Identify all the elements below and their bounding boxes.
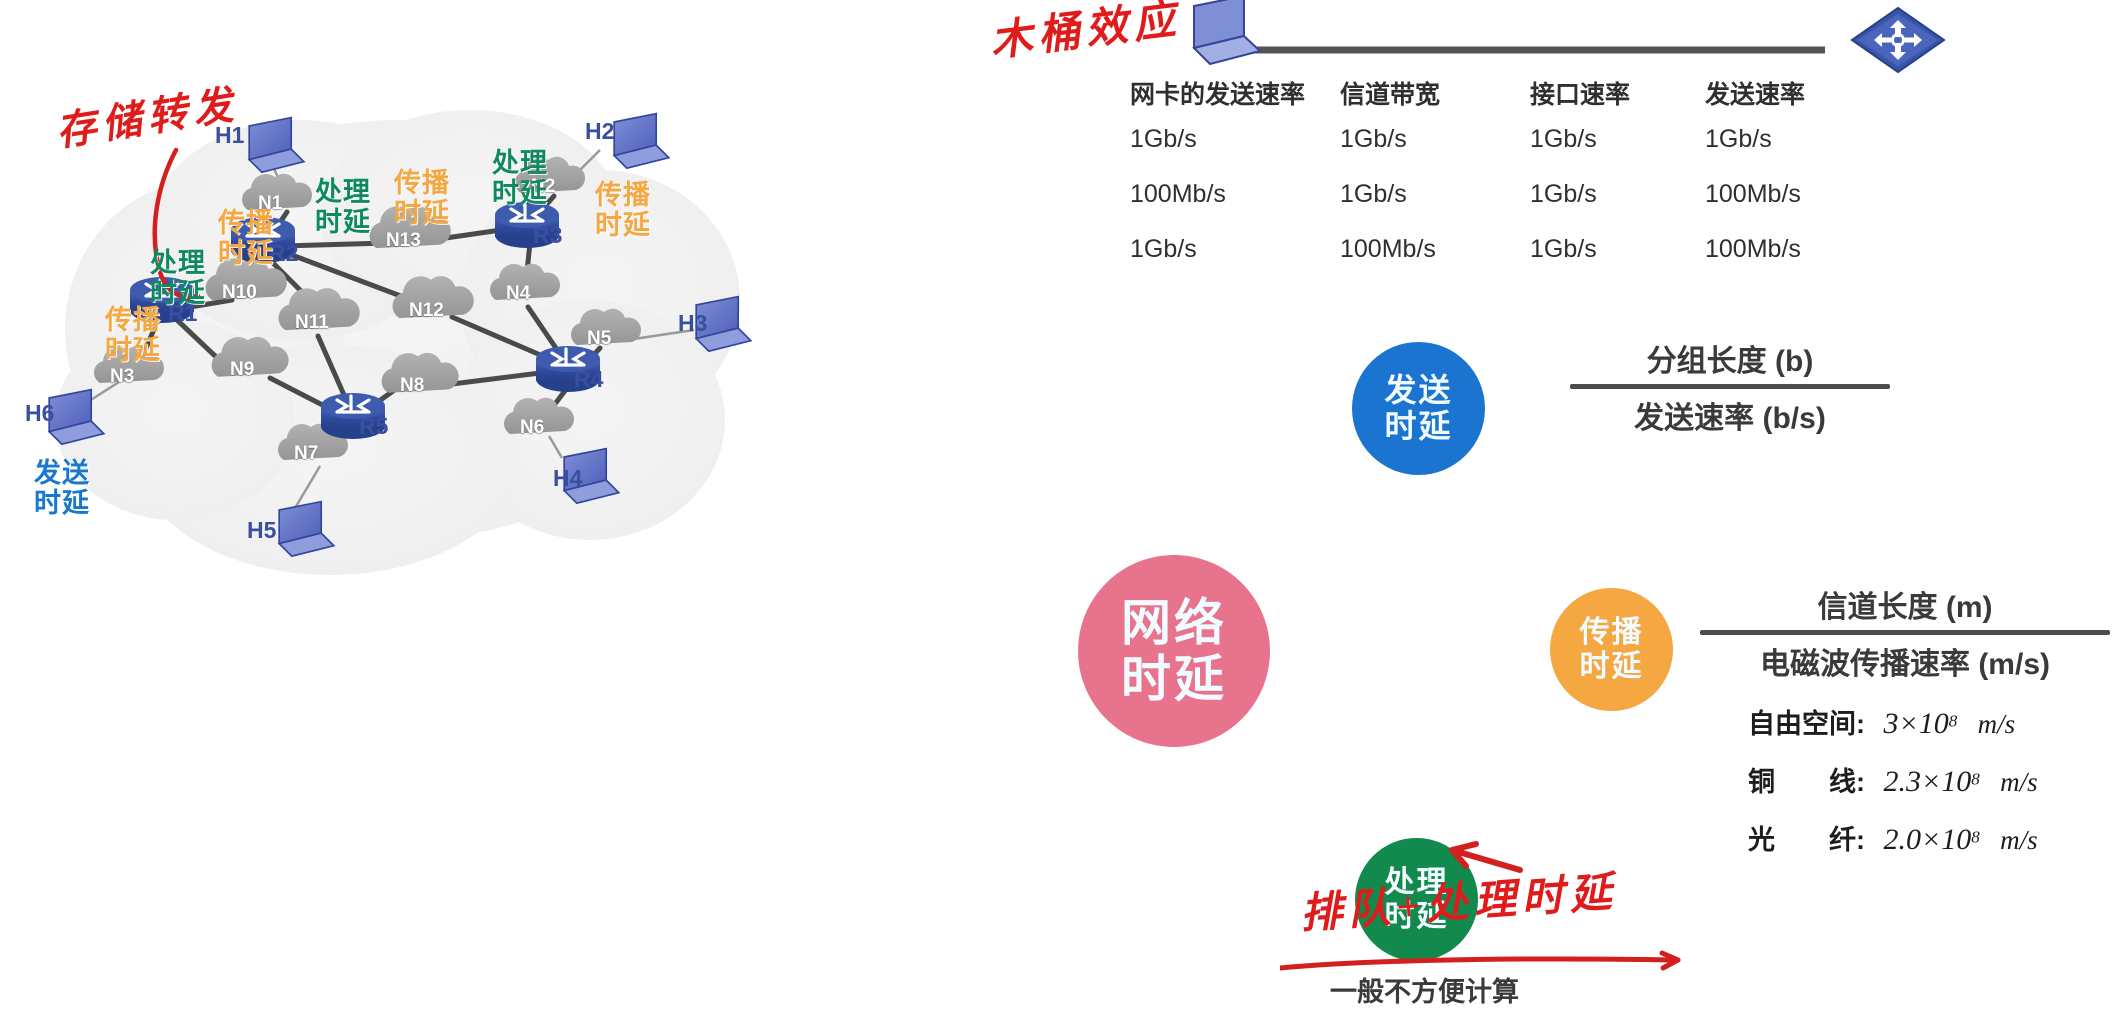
delay-label-sending-h6: 发送时延 bbox=[34, 458, 90, 518]
propagation-delay-line2: 时延 bbox=[1580, 650, 1644, 684]
delay-label-propagation-3: 传播时延 bbox=[394, 168, 450, 228]
cloud-label-n11: N11 bbox=[295, 312, 329, 334]
delay-line1: 处理 bbox=[492, 148, 548, 178]
rate-cell-r2c1: 100Mb/s bbox=[1340, 235, 1436, 264]
rate-cell-r2c0: 1Gb/s bbox=[1130, 235, 1197, 264]
rate-header-3: 发送速率 bbox=[1705, 75, 1805, 111]
sending-delay-circle: 发送 时延 bbox=[1352, 342, 1485, 475]
speed-unit: m/s bbox=[1978, 709, 2016, 739]
handwriting-queue-plus-processing: 排队+处理时延 bbox=[1298, 858, 1619, 941]
rate-header-2: 接口速率 bbox=[1530, 75, 1630, 111]
delay-line1: 处理 bbox=[315, 177, 371, 207]
delay-line2: 时延 bbox=[150, 278, 206, 308]
delay-line1: 传播 bbox=[595, 180, 651, 210]
cloud-label-n8: N8 bbox=[400, 375, 424, 397]
rate-cell-r2c3: 100Mb/s bbox=[1705, 235, 1801, 264]
delay-label-propagation-1: 传播时延 bbox=[105, 305, 161, 365]
rate-cell-r0c0: 1Gb/s bbox=[1130, 125, 1197, 154]
propagation-delay-circle: 传播 时延 bbox=[1550, 588, 1673, 711]
speed-base: 10 bbox=[1941, 765, 1971, 798]
network-delay-line1: 网络 bbox=[1121, 595, 1227, 651]
propagation-speed-row-2: 光 纤: 2.0×108 m/s bbox=[1748, 818, 2038, 857]
delay-label-propagation-2: 传播时延 bbox=[218, 208, 274, 268]
sending-delay-line2: 时延 bbox=[1384, 409, 1452, 445]
propagation-formula-denominator: 电磁波传播速率 (m/s) bbox=[1700, 639, 2110, 683]
rate-cell-r1c3: 100Mb/s bbox=[1705, 180, 1801, 209]
delay-label-processing-r3: 处理时延 bbox=[492, 148, 548, 208]
speed-base: 10 bbox=[1941, 823, 1971, 856]
host-label-h3: H3 bbox=[678, 310, 707, 337]
speed-unit: m/s bbox=[2000, 825, 2038, 855]
laptop-icon bbox=[1194, 0, 1260, 64]
rate-cell-r0c2: 1Gb/s bbox=[1530, 125, 1597, 154]
rate-cell-r0c3: 1Gb/s bbox=[1705, 125, 1772, 154]
rate-cell-r0c1: 1Gb/s bbox=[1340, 125, 1407, 154]
delay-label-processing-r2: 处理时延 bbox=[315, 177, 371, 237]
fraction-bar bbox=[1700, 630, 2110, 635]
speed-coef: 2.0× bbox=[1883, 823, 1941, 856]
delay-line2: 时延 bbox=[492, 178, 548, 208]
propagation-delay-formula: 信道长度 (m) 电磁波传播速率 (m/s) bbox=[1700, 582, 2110, 683]
propagation-speed-row-0: 自由空间: 3×108 m/s bbox=[1748, 702, 2015, 741]
medium-label: 光 纤: bbox=[1748, 825, 1865, 855]
rate-cell-r1c1: 1Gb/s bbox=[1340, 180, 1407, 209]
sending-delay-formula: 分组长度 (b) 发送速率 (b/s) bbox=[1570, 336, 1890, 437]
delay-line1: 传播 bbox=[218, 208, 274, 238]
switch-icon bbox=[1852, 8, 1944, 72]
router-label-r3: R3 bbox=[533, 222, 562, 249]
delay-line2: 时延 bbox=[34, 488, 90, 518]
speed-base: 10 bbox=[1919, 707, 1949, 740]
network-delay-line2: 时延 bbox=[1121, 651, 1227, 707]
cloud-label-n5: N5 bbox=[587, 328, 611, 350]
speed-exponent: 8 bbox=[1949, 712, 1958, 731]
rate-cell-r1c0: 100Mb/s bbox=[1130, 180, 1226, 209]
delay-line1: 处理 bbox=[150, 248, 206, 278]
router-label-r4: R4 bbox=[574, 366, 603, 393]
speed-exponent: 8 bbox=[1971, 828, 1980, 847]
host-label-h2: H2 bbox=[585, 118, 614, 145]
processing-delay-note: 一般不方便计算 bbox=[1330, 970, 1519, 1009]
network-delay-circle: 网络 时延 bbox=[1078, 555, 1270, 747]
delay-line2: 时延 bbox=[595, 210, 651, 240]
fraction-bar bbox=[1570, 384, 1890, 389]
cloud-label-n9: N9 bbox=[230, 359, 254, 381]
router-label-r5: R5 bbox=[359, 413, 388, 440]
rate-header-1: 信道带宽 bbox=[1340, 75, 1440, 111]
cloud-label-n3: N3 bbox=[110, 366, 134, 388]
sending-delay-line1: 发送 bbox=[1384, 373, 1452, 409]
speed-unit: m/s bbox=[2000, 767, 2038, 797]
cloud-label-n12: N12 bbox=[409, 300, 444, 322]
network-topology-diagram: N1 N2 N3 N4 N5 N6 N7 N8 N9 N10 N11 N12 N… bbox=[0, 0, 1010, 1020]
host-label-h4: H4 bbox=[553, 465, 582, 492]
delay-label-propagation-4: 传播时延 bbox=[595, 180, 651, 240]
cloud-label-n4: N4 bbox=[506, 283, 530, 305]
delay-line1: 发送 bbox=[34, 458, 90, 488]
propagation-delay-line1: 传播 bbox=[1580, 616, 1644, 650]
rate-comparison-panel: 网卡的发送速率 信道带宽 接口速率 发送速率 1Gb/s 1Gb/s 1Gb/s… bbox=[1130, 0, 2127, 270]
rate-header-0: 网卡的发送速率 bbox=[1130, 75, 1305, 111]
handwriting-underline bbox=[1280, 959, 1678, 968]
delay-line1: 传播 bbox=[105, 305, 161, 335]
rate-cell-r1c2: 1Gb/s bbox=[1530, 180, 1597, 209]
medium-label: 铜 线: bbox=[1748, 767, 1865, 797]
sending-formula-numerator: 分组长度 (b) bbox=[1570, 336, 1890, 380]
rate-cell-r2c2: 1Gb/s bbox=[1530, 235, 1597, 264]
cloud-label-n10: N10 bbox=[222, 282, 257, 304]
speed-exponent: 8 bbox=[1971, 770, 1980, 789]
speed-coef: 3× bbox=[1883, 707, 1918, 740]
speed-coef: 2.3× bbox=[1883, 765, 1941, 798]
delay-line2: 时延 bbox=[394, 198, 450, 228]
delay-label-processing-r1: 处理时延 bbox=[150, 248, 206, 308]
propagation-formula-numerator: 信道长度 (m) bbox=[1700, 582, 2110, 626]
host-label-h5: H5 bbox=[247, 517, 276, 544]
delay-line2: 时延 bbox=[218, 238, 274, 268]
propagation-speed-row-1: 铜 线: 2.3×108 m/s bbox=[1748, 760, 2038, 799]
sending-formula-denominator: 发送速率 (b/s) bbox=[1570, 393, 1890, 437]
delay-line1: 传播 bbox=[394, 168, 450, 198]
medium-label: 自由空间: bbox=[1748, 709, 1865, 739]
cloud-label-n13: N13 bbox=[386, 230, 421, 252]
delay-line2: 时延 bbox=[315, 207, 371, 237]
cloud-label-n6: N6 bbox=[520, 417, 544, 439]
delay-line2: 时延 bbox=[105, 335, 161, 365]
host-label-h6: H6 bbox=[25, 400, 54, 427]
underline-arrowhead bbox=[1662, 953, 1678, 968]
cloud-label-n7: N7 bbox=[294, 443, 318, 465]
